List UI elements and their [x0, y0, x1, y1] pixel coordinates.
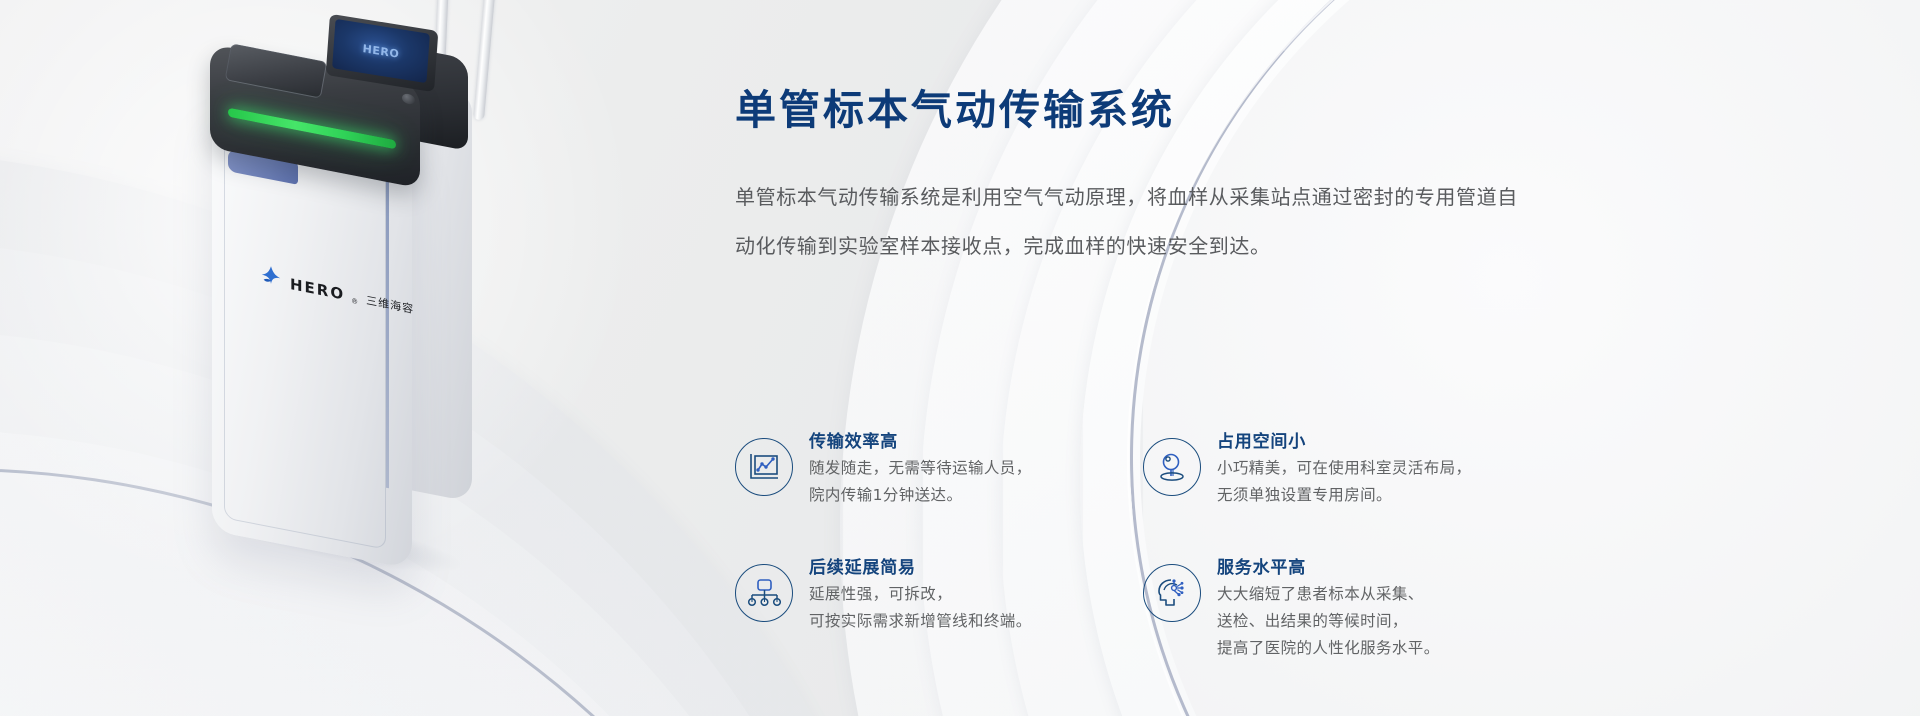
feature-description: 延展性强，可拆改， 可按实际需求新增管线和终端。 — [809, 581, 1032, 634]
feature-text: 后续延展简易 延展性强，可拆改， 可按实际需求新增管线和终端。 — [809, 554, 1032, 635]
feature-item-service-level: 服务水平高 大大缩短了患者标本从采集、 送检、出结果的等候时间， 提高了医院的人… — [1143, 554, 1563, 661]
screen-logo-text: HERO — [362, 42, 400, 61]
feature-item-small-footprint: 占用空间小 小巧精美，可在使用科室灵活布局， 无须单独设置专用房间。 — [1143, 428, 1563, 554]
hero-leaf-icon — [258, 263, 284, 292]
feature-grid: 传输效率高 随发随走，无需等待运输人员， 院内传输1分钟送达。 占用空间小 小巧… — [735, 428, 1825, 661]
feature-title: 占用空间小 — [1217, 432, 1306, 452]
feature-title: 后续延展简易 — [809, 558, 916, 578]
feature-item-transmission-efficiency: 传输效率高 随发随走，无需等待运输人员， 院内传输1分钟送达。 — [735, 428, 1143, 554]
feature-description: 随发随走，无需等待运输人员， 院内传输1分钟送达。 — [809, 455, 1032, 508]
feature-text: 服务水平高 大大缩短了患者标本从采集、 送检、出结果的等候时间， 提高了医院的人… — [1217, 554, 1440, 661]
feature-text: 占用空间小 小巧精美，可在使用科室灵活布局， 无须单独设置专用房间。 — [1217, 428, 1471, 509]
intro-paragraph: 单管标本气动传输系统是利用空气气动原理，将血样从采集站点通过密封的专用管道自动化… — [735, 173, 1525, 271]
pneumatic-tube-right — [473, 0, 498, 120]
location-pin-icon — [1143, 438, 1201, 496]
feature-text: 传输效率高 随发随走，无需等待运输人员， 院内传输1分钟送达。 — [809, 428, 1032, 509]
head-network-icon — [1143, 564, 1201, 622]
feature-description: 小巧精美，可在使用科室灵活布局， 无须单独设置专用房间。 — [1217, 455, 1471, 508]
feature-item-easy-expansion: 后续延展简易 延展性强，可拆改， 可按实际需求新增管线和终端。 — [735, 554, 1143, 661]
banner-stage: HERO HERO ® 三维海容 单管标本气动传输系统 单管标本气动传输系统是利… — [0, 0, 1920, 716]
brand-registered-mark: ® — [351, 297, 358, 306]
network-tree-icon — [735, 564, 793, 622]
feature-title: 传输效率高 — [809, 432, 898, 452]
product-image: HERO HERO ® 三维海容 — [150, 0, 670, 660]
content-block: 单管标本气动传输系统 单管标本气动传输系统是利用空气气动原理，将血样从采集站点通… — [735, 86, 1825, 271]
page-title: 单管标本气动传输系统 — [735, 86, 1825, 135]
line-chart-icon — [735, 438, 793, 496]
product-panel-outline — [224, 126, 386, 549]
feature-title: 服务水平高 — [1217, 558, 1306, 578]
feature-description: 大大缩短了患者标本从采集、 送检、出结果的等候时间， 提高了医院的人性化服务水平… — [1217, 581, 1440, 661]
